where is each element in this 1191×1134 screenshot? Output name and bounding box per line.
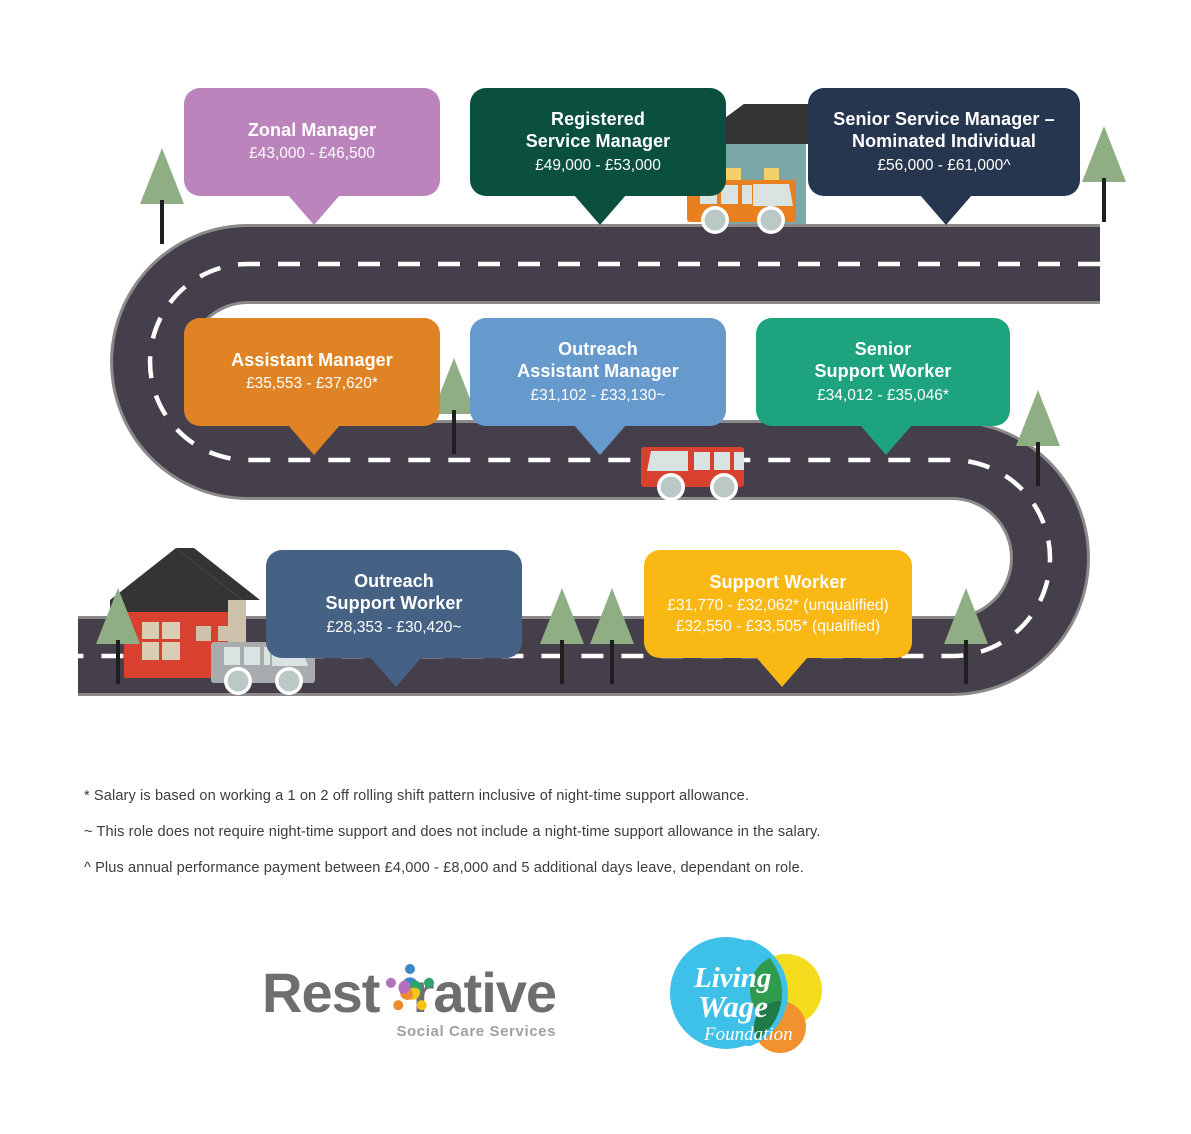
logo-row: Restorative [0, 925, 1191, 1075]
role-title: Outreach [354, 570, 434, 592]
role-salary: £49,000 - £53,000 [535, 156, 661, 177]
role-salary: £35,553 - £37,620* [246, 374, 378, 395]
role-salary: £56,000 - £61,000^ [877, 156, 1010, 177]
role-callout-outreach-support-worker[interactable]: OutreachSupport Worker£28,353 - £30,420~ [266, 550, 522, 658]
role-title-line2: Nominated Individual [852, 130, 1036, 152]
role-callout-zonal-manager[interactable]: Zonal Manager£43,000 - £46,500 [184, 88, 440, 196]
role-title: Support Worker [709, 571, 846, 593]
callout-tail-registered-service-manager [574, 195, 626, 225]
role-title-line2: Support Worker [814, 360, 951, 382]
role-title: Registered [551, 108, 645, 130]
callout-tail-outreach-assistant-manager [574, 425, 626, 455]
restorative-logo: Restorative [262, 965, 556, 1021]
callout-tail-outreach-support-worker [370, 657, 422, 687]
role-title: Outreach [558, 338, 638, 360]
footnotes: * Salary is based on working a 1 on 2 of… [84, 786, 1084, 894]
restorative-people-circle-icon [381, 960, 439, 1018]
role-title: Assistant Manager [231, 349, 393, 371]
callout-tail-support-worker [756, 657, 808, 687]
lwf-line-2: Wage [698, 989, 768, 1024]
role-title-line2: Assistant Manager [517, 360, 679, 382]
role-callout-registered-service-manager[interactable]: RegisteredService Manager£49,000 - £53,0… [470, 88, 726, 196]
footnote-caret: ^ Plus annual performance payment betwee… [84, 858, 1084, 880]
callout-tail-zonal-manager [288, 195, 340, 225]
role-salary: £34,012 - £35,046* [817, 386, 949, 407]
role-title: Senior Service Manager – [833, 108, 1055, 130]
restorative-word-before: Rest [262, 961, 379, 1024]
callout-tail-assistant-manager [288, 425, 340, 455]
role-callout-senior-support-worker[interactable]: SeniorSupport Worker£34,012 - £35,046* [756, 318, 1010, 426]
role-callout-outreach-assistant-manager[interactable]: OutreachAssistant Manager£31,102 - £33,1… [470, 318, 726, 426]
restorative-tagline: Social Care Services [396, 1023, 556, 1040]
lwf-line-3: Foundation [703, 1024, 793, 1045]
role-title: Zonal Manager [248, 119, 376, 141]
living-wage-foundation-logo: Living Wage Foundation [668, 935, 828, 1060]
role-salary: £43,000 - £46,500 [249, 144, 375, 165]
role-salary: £31,770 - £32,062* (unqualified) [667, 596, 888, 617]
footnote-tilde: ~ This role does not require night-time … [84, 822, 1084, 844]
role-title-line2: Service Manager [526, 130, 671, 152]
role-salary: £31,102 - £33,130~ [531, 386, 666, 407]
role-callout-senior-service-manager-nominated-individual[interactable]: Senior Service Manager –Nominated Indivi… [808, 88, 1080, 196]
role-callout-support-worker[interactable]: Support Worker£31,770 - £32,062* (unqual… [644, 550, 912, 658]
role-salary-secondary: £32,550 - £33,505* (qualified) [676, 617, 880, 638]
infographic-canvas: Zonal Manager£43,000 - £46,500Registered… [0, 0, 1191, 1134]
callout-tail-senior-support-worker [860, 425, 912, 455]
role-title: Senior [855, 338, 912, 360]
role-title-line2: Support Worker [325, 592, 462, 614]
role-salary: £28,353 - £30,420~ [327, 618, 462, 639]
callout-tail-senior-service-manager-nominated-individual [920, 195, 972, 225]
footnote-asterisk: * Salary is based on working a 1 on 2 of… [84, 786, 1084, 808]
role-callout-assistant-manager[interactable]: Assistant Manager£35,553 - £37,620* [184, 318, 440, 426]
